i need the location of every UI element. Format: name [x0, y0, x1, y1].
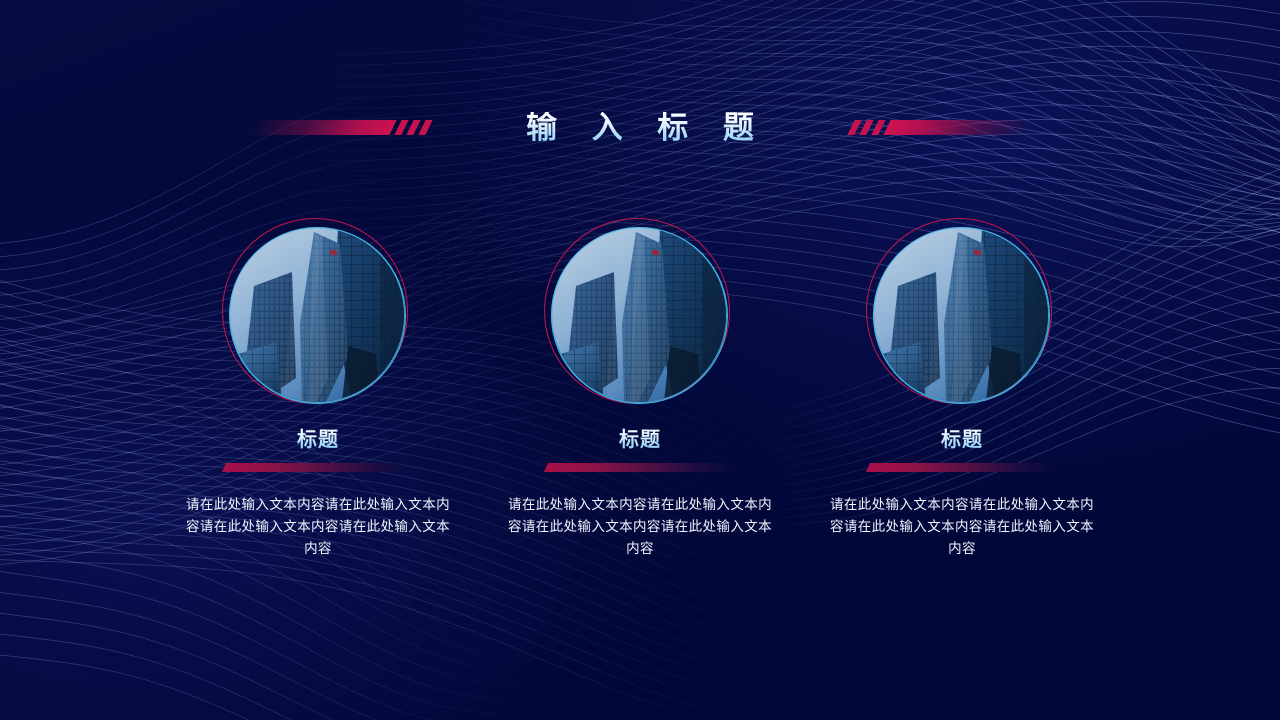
header-decoration-right — [851, 120, 1029, 135]
card-photo — [552, 228, 726, 402]
header-decoration-left — [251, 120, 429, 135]
circle-photo-frame — [218, 218, 418, 418]
page-title: 输 入 标 题 — [513, 112, 767, 143]
content-card[interactable]: 标题 请在此处输入文本内容请在此处输入文本内容请在此处输入文本内容请在此处输入文… — [479, 218, 801, 560]
content-card[interactable]: 标题 请在此处输入文本内容请在此处输入文本内容请在此处输入文本内容请在此处输入文… — [801, 218, 1123, 560]
card-underline-bar — [544, 463, 736, 472]
content-card[interactable]: 标题 请在此处输入文本内容请在此处输入文本内容请在此处输入文本内容请在此处输入文… — [157, 218, 479, 560]
card-body-text: 请在此处输入文本内容请在此处输入文本内容请在此处输入文本内容请在此处输入文本内容 — [504, 494, 776, 560]
decoration-bar — [247, 120, 396, 135]
card-title: 标题 — [297, 428, 339, 452]
card-underline-bar — [866, 463, 1058, 472]
circle-photo-frame — [540, 218, 740, 418]
decoration-dashes — [851, 120, 887, 135]
decoration-dash — [418, 120, 432, 135]
slide-header: 输 入 标 题 — [0, 96, 1280, 158]
card-title: 标题 — [941, 428, 983, 452]
card-underline-bar — [222, 463, 414, 472]
card-body-text: 请在此处输入文本内容请在此处输入文本内容请在此处输入文本内容请在此处输入文本内容 — [182, 494, 454, 560]
circle-photo-frame — [862, 218, 1062, 418]
card-body-text: 请在此处输入文本内容请在此处输入文本内容请在此处输入文本内容请在此处输入文本内容 — [826, 494, 1098, 560]
decoration-bar — [883, 120, 1032, 135]
card-photo — [874, 228, 1048, 402]
content-columns: 标题 请在此处输入文本内容请在此处输入文本内容请在此处输入文本内容请在此处输入文… — [0, 218, 1280, 560]
decoration-dashes — [393, 120, 429, 135]
card-title: 标题 — [619, 428, 661, 452]
presentation-slide: 输 入 标 题 标题 请在此处输入文本内容请在此处输入文本内容请在此处输入文本内… — [0, 0, 1280, 720]
card-photo — [230, 228, 404, 402]
